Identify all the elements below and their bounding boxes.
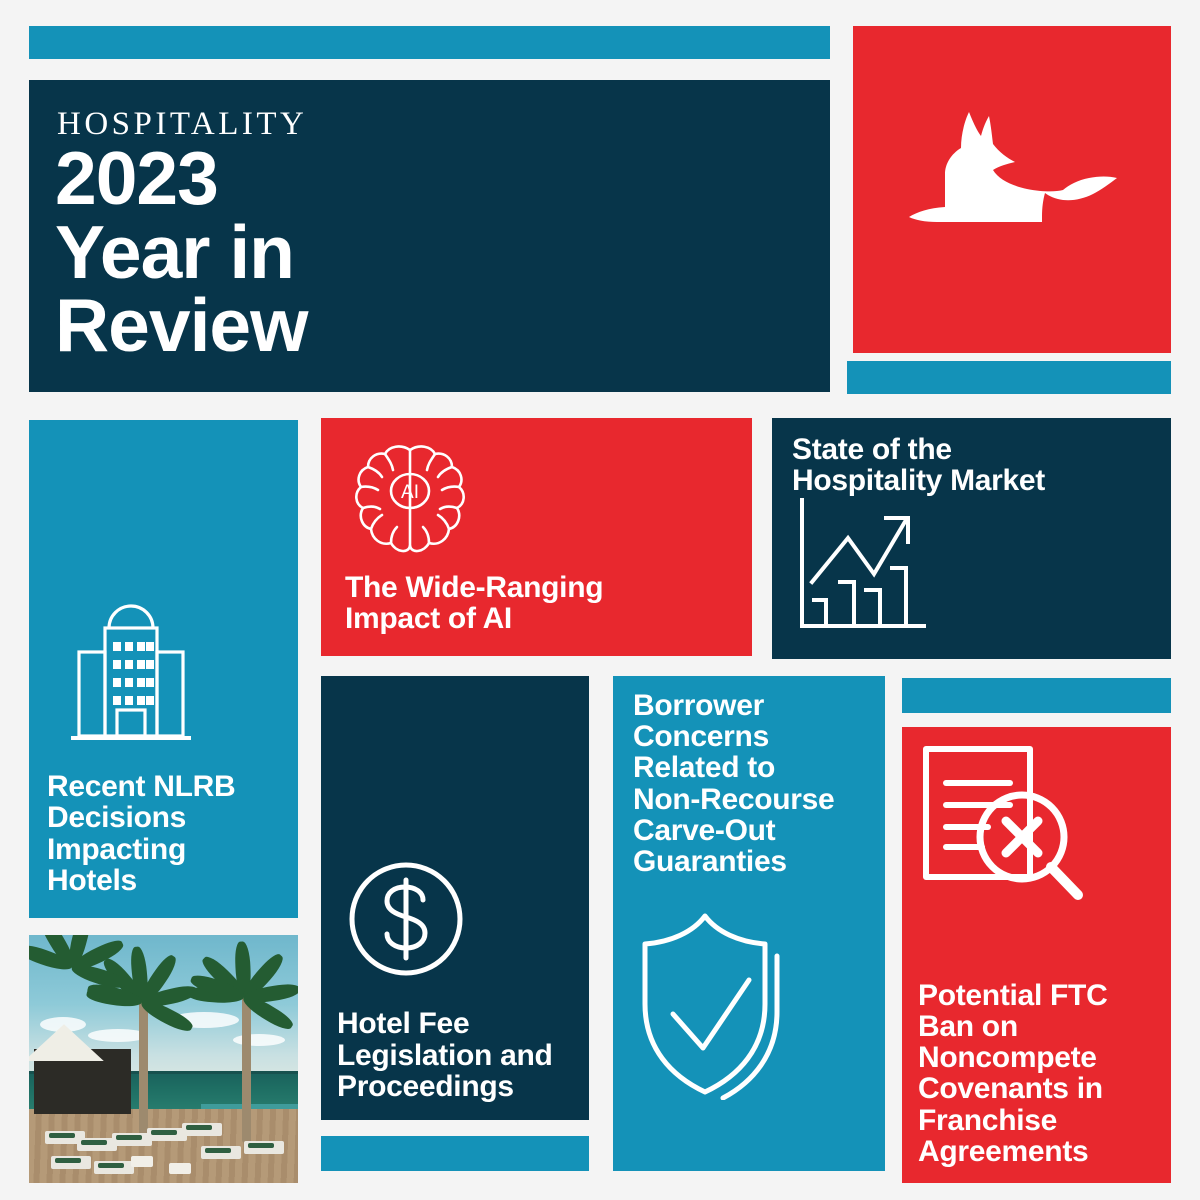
card-nlrb-title-line-2: Decisions bbox=[47, 802, 235, 833]
card-borrower-title-line-4: Non-Recourse bbox=[633, 784, 834, 815]
card-borrower-concerns[interactable]: Borrower Concerns Related to Non-Recours… bbox=[613, 676, 885, 1171]
ai-brain-icon: AI bbox=[345, 436, 475, 566]
card-nlrb-decisions[interactable]: Recent NLRB Decisions Impacting Hotels bbox=[29, 420, 298, 918]
card-market-title-line-1: State of the bbox=[792, 434, 1045, 465]
card-nlrb-title-line-1: Recent NLRB bbox=[47, 771, 235, 802]
card-ftc-noncompete-ban[interactable]: Potential FTC Ban on Noncompete Covenant… bbox=[902, 727, 1171, 1183]
logo-accent-bar bbox=[847, 361, 1171, 394]
photo-lounger bbox=[94, 1161, 134, 1174]
photo-lounger bbox=[244, 1141, 284, 1154]
hotel-fee-accent-bar bbox=[321, 1136, 589, 1171]
card-borrower-title-line-3: Related to bbox=[633, 752, 834, 783]
beach-resort-photo bbox=[29, 935, 298, 1183]
card-market-title: State of the Hospitality Market bbox=[792, 434, 1045, 496]
card-hotel-fee-title: Hotel Fee Legislation and Proceedings bbox=[337, 1008, 553, 1102]
card-nlrb-title-line-4: Hotels bbox=[47, 865, 235, 896]
hotel-building-icon bbox=[67, 590, 195, 760]
document-search-reject-icon bbox=[920, 743, 1100, 915]
card-nlrb-title: Recent NLRB Decisions Impacting Hotels bbox=[47, 771, 235, 896]
card-hotel-fee-title-line-3: Proceedings bbox=[337, 1071, 553, 1102]
card-ai-impact[interactable]: AI The Wide-Ranging Impact of AI bbox=[321, 418, 752, 656]
card-market-title-line-2: Hospitality Market bbox=[792, 465, 1045, 496]
card-nlrb-title-line-3: Impacting bbox=[47, 834, 235, 865]
card-ftc-title-line-6: Agreements bbox=[918, 1136, 1107, 1167]
page-title: 2023 Year in Review bbox=[55, 142, 307, 363]
growth-chart-icon bbox=[792, 496, 932, 638]
card-hotel-fee-legislation[interactable]: Hotel Fee Legislation and Proceedings bbox=[321, 676, 589, 1120]
photo-lounger bbox=[201, 1146, 241, 1159]
card-ftc-title-line-2: Ban on bbox=[918, 1011, 1107, 1042]
card-ai-title: The Wide-Ranging Impact of AI bbox=[345, 572, 603, 634]
photo-lounger bbox=[51, 1156, 91, 1169]
dollar-coin-icon bbox=[341, 854, 471, 984]
ftc-accent-bar bbox=[902, 678, 1171, 713]
card-hotel-fee-title-line-2: Legislation and bbox=[337, 1040, 553, 1071]
photo-patio-table bbox=[169, 1163, 191, 1174]
card-borrower-title-line-5: Carve-Out bbox=[633, 815, 834, 846]
card-ai-title-line-2: Impact of AI bbox=[345, 603, 603, 634]
header-panel: HOSPITALITY 2023 Year in Review bbox=[29, 80, 830, 392]
card-ftc-title-line-5: Franchise bbox=[918, 1105, 1107, 1136]
card-borrower-title-line-1: Borrower bbox=[633, 690, 834, 721]
top-accent-bar bbox=[29, 26, 830, 59]
page-title-line-2: Year in bbox=[55, 216, 307, 290]
card-ftc-title: Potential FTC Ban on Noncompete Covenant… bbox=[918, 980, 1107, 1167]
shield-check-icon bbox=[631, 908, 791, 1100]
page-title-line-3: Review bbox=[55, 289, 307, 363]
page-title-line-1: 2023 bbox=[55, 142, 307, 216]
photo-scene bbox=[29, 935, 298, 1183]
card-borrower-title-line-2: Concerns bbox=[633, 721, 834, 752]
card-ftc-title-line-1: Potential FTC bbox=[918, 980, 1107, 1011]
logo-panel bbox=[853, 26, 1171, 353]
infographic-canvas: HOSPITALITY 2023 Year in Review bbox=[0, 0, 1200, 1200]
card-borrower-title-line-6: Guaranties bbox=[633, 846, 834, 877]
photo-patio-table bbox=[131, 1156, 153, 1167]
card-ftc-title-line-4: Covenants in bbox=[918, 1073, 1107, 1104]
card-ftc-title-line-3: Noncompete bbox=[918, 1042, 1107, 1073]
photo-palm-trunk bbox=[242, 990, 251, 1144]
card-hotel-fee-title-line-1: Hotel Fee bbox=[337, 1008, 553, 1039]
card-borrower-title: Borrower Concerns Related to Non-Recours… bbox=[633, 690, 834, 877]
fox-logo bbox=[903, 104, 1123, 259]
ai-brain-icon-label: AI bbox=[401, 482, 419, 503]
card-hospitality-market[interactable]: State of the Hospitality Market bbox=[772, 418, 1171, 659]
card-ai-title-line-1: The Wide-Ranging bbox=[345, 572, 603, 603]
photo-lounger bbox=[182, 1123, 222, 1136]
photo-palm-trunk bbox=[139, 995, 148, 1139]
